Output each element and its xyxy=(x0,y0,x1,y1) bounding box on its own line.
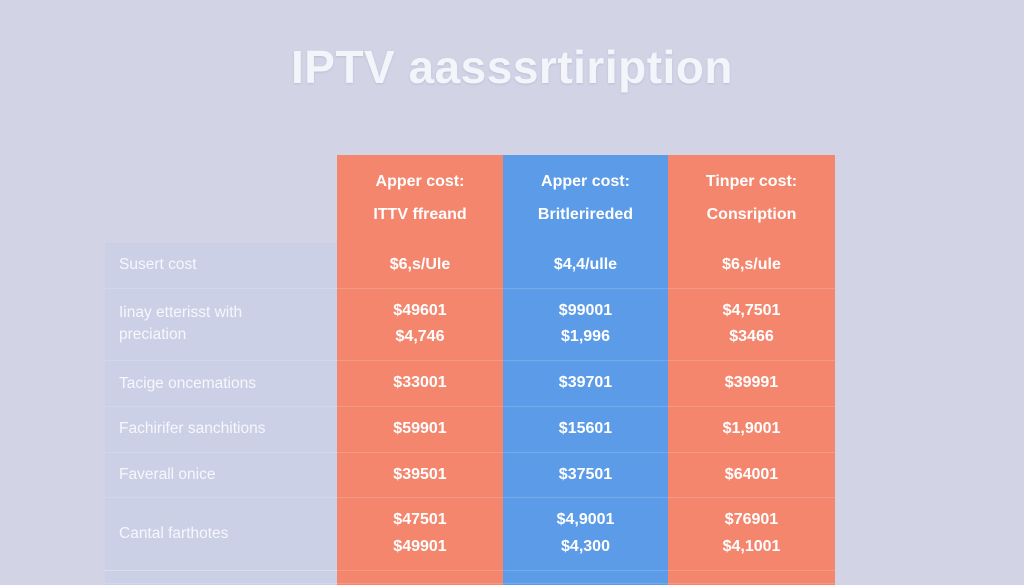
cell-value-line-1: $15601 xyxy=(509,418,662,441)
cell-value-line-1: $59901 xyxy=(343,418,497,441)
table-row-spacer xyxy=(105,570,835,583)
table-row: Tacige oncemations $33001 $39701 $39991 xyxy=(105,361,835,407)
row-spacer-plan-3 xyxy=(668,570,835,583)
cell-plan-1: $6,s/Ule xyxy=(337,243,503,288)
cell-plan-2: $39701 xyxy=(503,361,668,407)
cell-plan-3: $39991 xyxy=(668,361,835,407)
cell-value-line-1: $76901 xyxy=(674,509,829,532)
cell-plan-2: $4,4/ulle xyxy=(503,243,668,288)
cell-value-line-2: $49901 xyxy=(343,536,497,559)
table-row: Faverall onice $39501 $37501 $64001 xyxy=(105,452,835,498)
cell-value-line-2: $3466 xyxy=(674,326,829,349)
cell-plan-2: $4,9001 $4,300 xyxy=(503,498,668,570)
row-spacer-label xyxy=(105,570,337,583)
cell-value-line-2: $4,1001 xyxy=(674,536,829,559)
column-header-plan-1-line-2: ITTV ffreand xyxy=(343,203,497,226)
cell-plan-1: $47501 $49901 xyxy=(337,498,503,570)
column-header-plan-3-line-2: Consription xyxy=(674,203,829,226)
row-label: Iinay etterisst with preciation xyxy=(105,288,337,360)
column-header-plan-1: Apper cost: ITTV ffreand xyxy=(337,155,503,243)
cell-value-line-1: $33001 xyxy=(343,372,497,395)
column-header-plan-2-line-2: Britlerireded xyxy=(509,203,662,226)
cell-value-line-1: $4,4/ulle xyxy=(509,254,662,277)
column-header-plan-2: Apper cost: Britlerireded xyxy=(503,155,668,243)
row-label-line-1: Faverall onice xyxy=(119,464,327,486)
table-header: Apper cost: ITTV ffreand Apper cost: Bri… xyxy=(105,155,835,243)
cell-value-line-1: $99001 xyxy=(509,300,662,323)
cell-value-line-1: $39991 xyxy=(674,372,829,395)
cell-value-line-1: $39501 xyxy=(343,464,497,487)
cell-value-line-2: $4,746 xyxy=(343,326,497,349)
cell-value-line-2: $1,996 xyxy=(509,326,662,349)
header-row: Apper cost: ITTV ffreand Apper cost: Bri… xyxy=(105,155,835,243)
row-label-line-1: Iinay etterisst with xyxy=(119,302,327,324)
row-spacer-plan-2 xyxy=(503,570,668,583)
table-body: Susert cost $6,s/Ule $4,4/ulle $6,s/ule … xyxy=(105,243,835,585)
column-header-plan-2-line-1: Apper cost: xyxy=(509,170,662,193)
header-label-column xyxy=(105,155,337,243)
row-label-line-1: Tacige oncemations xyxy=(119,373,327,395)
cell-plan-1: $59901 xyxy=(337,406,503,452)
cell-plan-3: $64001 xyxy=(668,452,835,498)
table-row: Iinay etterisst with preciation $49601 $… xyxy=(105,288,835,360)
cell-value-line-1: $39701 xyxy=(509,372,662,395)
pricing-table-container: Apper cost: ITTV ffreand Apper cost: Bri… xyxy=(105,155,835,540)
row-label: Tacige oncemations xyxy=(105,361,337,407)
cell-value-line-1: $1,9001 xyxy=(674,418,829,441)
cell-plan-3: $6,s/ule xyxy=(668,243,835,288)
cell-value-line-1: $6,s/ule xyxy=(674,254,829,277)
cell-value-line-1: $6,s/Ule xyxy=(343,254,497,277)
cell-value-line-2: $4,300 xyxy=(509,536,662,559)
row-label: Faverall onice xyxy=(105,452,337,498)
cell-value-line-1: $37501 xyxy=(509,464,662,487)
row-label-line-1: Susert cost xyxy=(119,254,327,276)
row-label: Susert cost xyxy=(105,243,337,288)
cell-plan-3: $1,9001 xyxy=(668,406,835,452)
row-label-line-2: preciation xyxy=(119,324,327,346)
cell-plan-3: $76901 $4,1001 xyxy=(668,498,835,570)
row-spacer-plan-1 xyxy=(337,570,503,583)
row-label-line-1: Cantal farthotes xyxy=(119,523,327,545)
row-label: Fachirifer sanchitions xyxy=(105,406,337,452)
cell-value-line-1: $47501 xyxy=(343,509,497,532)
table-row: Cantal farthotes $47501 $49901 $4,9001 $… xyxy=(105,498,835,570)
row-label-line-1: Fachirifer sanchitions xyxy=(119,418,327,440)
page-title: IPTV aasssrtiription xyxy=(0,40,1024,94)
cell-plan-1: $49601 $4,746 xyxy=(337,288,503,360)
cell-value-line-1: $4,7501 xyxy=(674,300,829,323)
pricing-table: Apper cost: ITTV ffreand Apper cost: Bri… xyxy=(105,155,835,585)
table-row: Fachirifer sanchitions $59901 $15601 $1,… xyxy=(105,406,835,452)
column-header-plan-1-line-1: Apper cost: xyxy=(343,170,497,193)
column-header-plan-3-line-1: Tinper cost: xyxy=(674,170,829,193)
cell-plan-2: $37501 xyxy=(503,452,668,498)
cell-plan-2: $99001 $1,996 xyxy=(503,288,668,360)
cell-plan-1: $33001 xyxy=(337,361,503,407)
row-label: Cantal farthotes xyxy=(105,498,337,570)
cell-value-line-1: $4,9001 xyxy=(509,509,662,532)
cell-plan-2: $15601 xyxy=(503,406,668,452)
cell-plan-3: $4,7501 $3466 xyxy=(668,288,835,360)
column-header-plan-3: Tinper cost: Consription xyxy=(668,155,835,243)
cell-plan-1: $39501 xyxy=(337,452,503,498)
cell-value-line-1: $64001 xyxy=(674,464,829,487)
cell-value-line-1: $49601 xyxy=(343,300,497,323)
table-row: Susert cost $6,s/Ule $4,4/ulle $6,s/ule xyxy=(105,243,835,288)
